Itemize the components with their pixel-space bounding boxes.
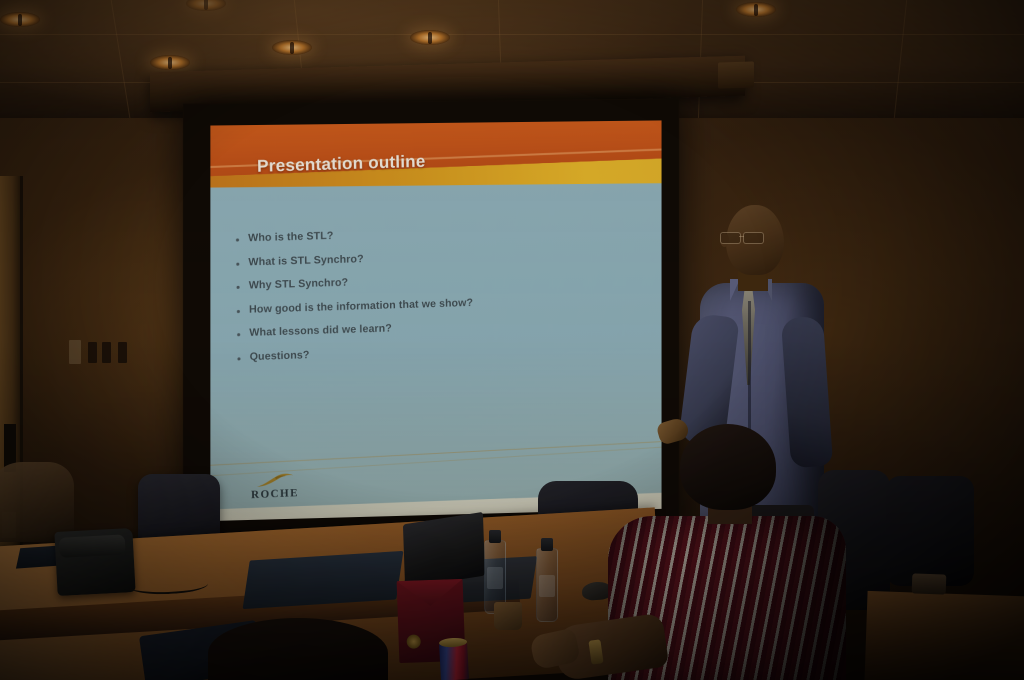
presentation-slide: Presentation outline Who is the STL? Wha… bbox=[210, 120, 661, 521]
slide-bullet-text: Who is the STL? bbox=[248, 230, 333, 244]
slide-bullet-text: What lessons did we learn? bbox=[249, 322, 392, 339]
slide-bullet-text: Questions? bbox=[250, 349, 310, 363]
folder-flap bbox=[397, 579, 464, 607]
bullet-dot-icon bbox=[237, 357, 240, 360]
ceiling-downlight bbox=[736, 2, 776, 17]
bullet-dot-icon bbox=[237, 286, 240, 289]
office-chair bbox=[886, 476, 974, 586]
attendee-head bbox=[680, 424, 776, 510]
ceiling-downlight bbox=[150, 55, 190, 70]
draped-chair-cover bbox=[0, 462, 74, 542]
seated-attendee-striped-shirt bbox=[596, 424, 846, 680]
bullet-dot-icon bbox=[236, 238, 239, 241]
slide-bullet-list: Who is the STL? What is STL Synchro? Why… bbox=[236, 221, 637, 374]
roche-logo: ROCHE bbox=[251, 472, 299, 503]
water-bottle bbox=[536, 548, 558, 622]
slide-bullet-text: What is STL Synchro? bbox=[248, 253, 363, 268]
slide-bullet-item: How good is the information that we show… bbox=[237, 291, 636, 315]
conference-phone[interactable] bbox=[54, 528, 135, 596]
wall-outlet bbox=[88, 342, 97, 363]
desk-mat bbox=[243, 551, 404, 609]
bullet-dot-icon bbox=[237, 333, 240, 336]
side-table-right bbox=[864, 591, 1024, 680]
phone-handset bbox=[59, 534, 126, 557]
soda-can-top bbox=[439, 637, 467, 647]
roche-swoosh-icon bbox=[254, 472, 295, 489]
ceiling-downlight bbox=[410, 30, 450, 45]
slide-bullet-item: Why STL Synchro? bbox=[236, 268, 635, 292]
slide-bullet-text: Why STL Synchro? bbox=[249, 277, 349, 292]
folder-seal-icon bbox=[406, 634, 420, 648]
bullet-dot-icon bbox=[236, 262, 239, 265]
conference-room-scene: Presentation outline Who is the STL? Wha… bbox=[0, 0, 1024, 680]
wall-outlet bbox=[118, 342, 127, 363]
attendee-head bbox=[208, 618, 388, 680]
slide-bullet-item: What is STL Synchro? bbox=[236, 245, 635, 269]
wall-outlet bbox=[102, 342, 111, 363]
ceiling-downlight bbox=[272, 40, 312, 55]
projector-screen-housing-cap bbox=[718, 61, 754, 88]
slide-bullet-text: How good is the information that we show… bbox=[249, 296, 473, 315]
soda-can bbox=[439, 641, 469, 680]
presenter-glasses bbox=[720, 232, 770, 243]
ceiling-downlight bbox=[0, 12, 40, 27]
slide-bullet-item: What lessons did we learn? bbox=[237, 315, 636, 340]
laptop[interactable] bbox=[403, 512, 485, 588]
light-switch-plate[interactable] bbox=[69, 340, 81, 364]
bullet-dot-icon bbox=[237, 310, 240, 313]
slide-bullet-item: Questions? bbox=[237, 338, 636, 363]
coffee-cup bbox=[494, 602, 522, 630]
seated-attendee-silhouette bbox=[208, 618, 408, 680]
side-table-object bbox=[912, 573, 947, 594]
roche-wordmark: ROCHE bbox=[251, 488, 299, 501]
